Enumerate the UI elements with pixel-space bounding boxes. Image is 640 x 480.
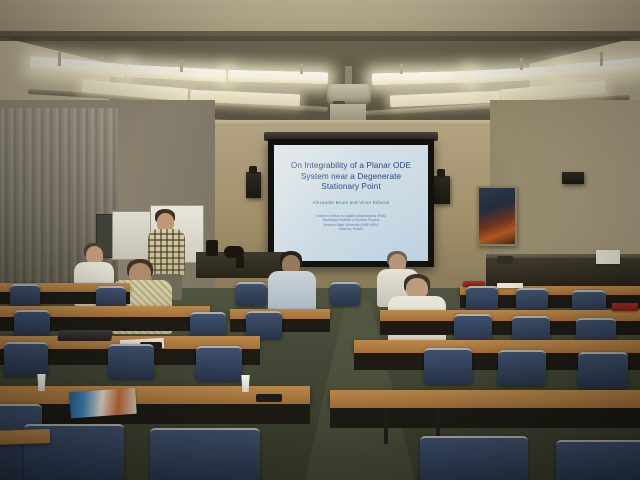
- light-stem-3: [300, 64, 303, 74]
- light-stem-1: [58, 52, 61, 66]
- projection-screen: On Integrability of a Planar ODE System …: [268, 139, 434, 267]
- slide-affiliation: Keldysh Institute for Applied Mathematic…: [316, 214, 386, 232]
- slide-title-line-3: Stationary Point: [281, 182, 421, 193]
- lecture-hall-photo: On Integrability of a Planar ODE System …: [0, 0, 640, 480]
- laptop[interactable]: [57, 330, 113, 341]
- chair-back: [578, 352, 628, 389]
- table-skirt: [330, 408, 640, 428]
- side-counter-papers: [596, 250, 620, 264]
- chair-back: [14, 310, 50, 338]
- slide-title-line-2: System near a Degenerate: [281, 172, 421, 183]
- wall-speaker-left: [246, 172, 261, 198]
- chair-back: [196, 346, 242, 381]
- framed-poster: [477, 186, 517, 246]
- chair-back: [246, 311, 282, 339]
- chair-back: [556, 440, 640, 480]
- ceiling-front-band: [0, 0, 640, 34]
- person-torso: [268, 271, 316, 313]
- light-stem-6: [600, 52, 603, 66]
- side-counter-equipment: [497, 256, 513, 264]
- slide-author: Alexander Bruno and Victor Edneral: [313, 200, 390, 206]
- chair-back: [424, 348, 472, 384]
- person-torso-plaid-shirt: [148, 229, 185, 277]
- presentation-slide: On Integrability of a Planar ODE System …: [274, 145, 428, 261]
- chair-back: [108, 344, 154, 379]
- wall-speaker-far-right: [562, 172, 584, 184]
- slide-affiliation-line-2: Skobeltsyn Institute of Nuclear Physics: [316, 218, 386, 223]
- light-stem-2: [180, 60, 183, 72]
- poster-artwork: [479, 188, 515, 244]
- chair-back: [150, 428, 260, 480]
- red-binder-2: [612, 303, 638, 311]
- light-stem-5: [520, 58, 523, 70]
- mobile-phone-2[interactable]: [256, 394, 282, 402]
- av-equipment: [206, 240, 218, 256]
- wall-speaker-right-bracket: [437, 169, 445, 177]
- table-skirt: [0, 404, 310, 424]
- slide-title-line-1: On Integrability of a Planar ODE: [281, 161, 421, 172]
- wall-speaker-left-bracket: [249, 166, 257, 173]
- table-row-4-right: [330, 390, 640, 408]
- wall-speaker-right: [434, 176, 450, 204]
- ceiling-edge-shadow: [0, 31, 640, 41]
- chair-back: [466, 286, 498, 312]
- chair-back: [498, 350, 546, 386]
- chair-back: [420, 436, 528, 480]
- table-leg: [384, 408, 388, 444]
- chair-back: [330, 282, 360, 306]
- light-stem-4: [400, 64, 403, 74]
- screen-surface: On Integrability of a Planar ODE System …: [274, 145, 428, 261]
- brochure[interactable]: [69, 388, 137, 419]
- slide-title: On Integrability of a Planar ODE System …: [281, 161, 421, 193]
- chair-back: [10, 284, 40, 308]
- av-equipment-stand: [236, 256, 244, 268]
- chair-back: [236, 282, 266, 306]
- table-foreground-left: [0, 429, 50, 445]
- chair-back: [4, 342, 48, 376]
- slide-affiliation-line-4: Moscow, Russia: [316, 227, 386, 232]
